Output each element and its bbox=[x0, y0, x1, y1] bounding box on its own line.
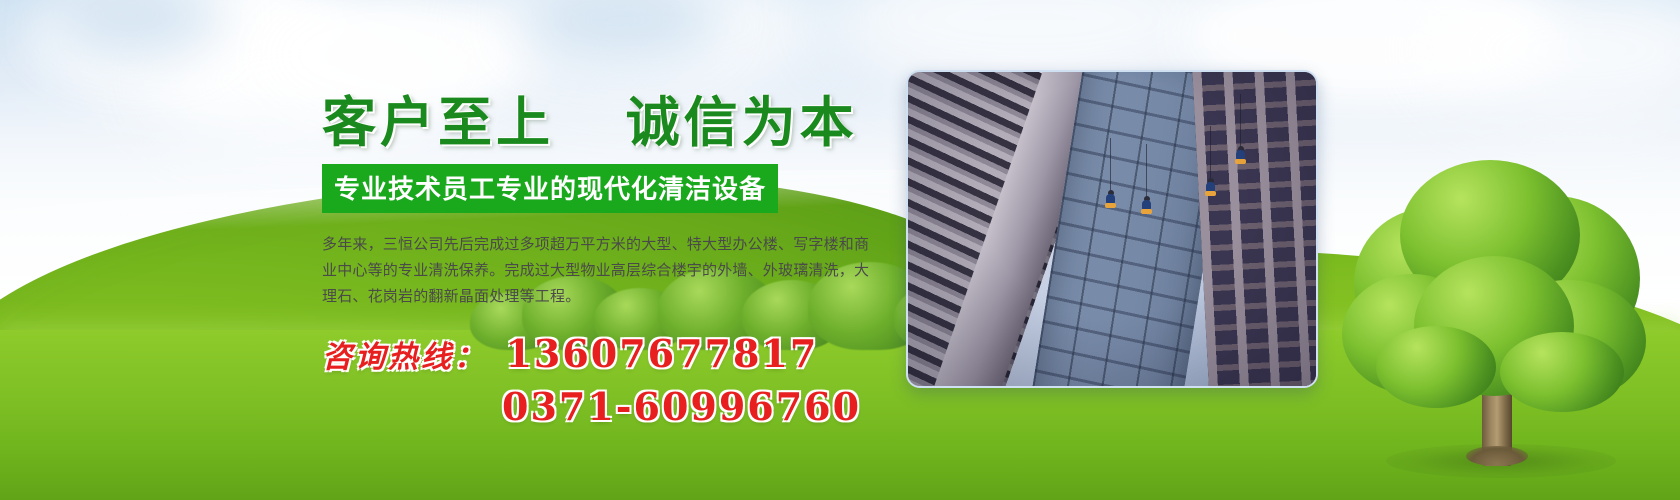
tree-canopy bbox=[1500, 332, 1624, 412]
hotline-block: 咨询热线： 13607677817 0371-60996760 bbox=[322, 331, 902, 429]
tree-canopy bbox=[1376, 326, 1496, 408]
hotline-label: 咨询热线： bbox=[322, 340, 487, 375]
hotline-landline-number[interactable]: 0371-60996760 bbox=[502, 384, 902, 429]
body-paragraph: 多年来，三恒公司先后完成过多项超万平方米的大型、特大型办公楼、写字楼和商业中心等… bbox=[322, 231, 882, 309]
banner-copy: 客户至上 诚信为本 专业技术员工专业的现代化清洁设备 多年来，三恒公司先后完成过… bbox=[322, 96, 902, 429]
building-photo-card[interactable] bbox=[906, 70, 1318, 388]
tree-trunk bbox=[1482, 388, 1512, 466]
hotline-mobile-number[interactable]: 13607677817 bbox=[505, 331, 818, 376]
tree-illustration bbox=[1330, 156, 1660, 466]
promo-banner: 客户至上 诚信为本 专业技术员工专业的现代化清洁设备 多年来，三恒公司先后完成过… bbox=[0, 0, 1680, 500]
headline-part-left: 客户至上 bbox=[322, 91, 554, 154]
headline-part-right: 诚信为本 bbox=[626, 91, 858, 154]
highrise-cleaning-photo bbox=[908, 72, 1316, 386]
subtitle-text: 专业技术员工专业的现代化清洁设备 bbox=[334, 175, 766, 205]
subtitle-bar: 专业技术员工专业的现代化清洁设备 bbox=[322, 164, 778, 213]
page-headline: 客户至上 诚信为本 bbox=[322, 96, 902, 150]
photo-vignette bbox=[908, 72, 1316, 386]
